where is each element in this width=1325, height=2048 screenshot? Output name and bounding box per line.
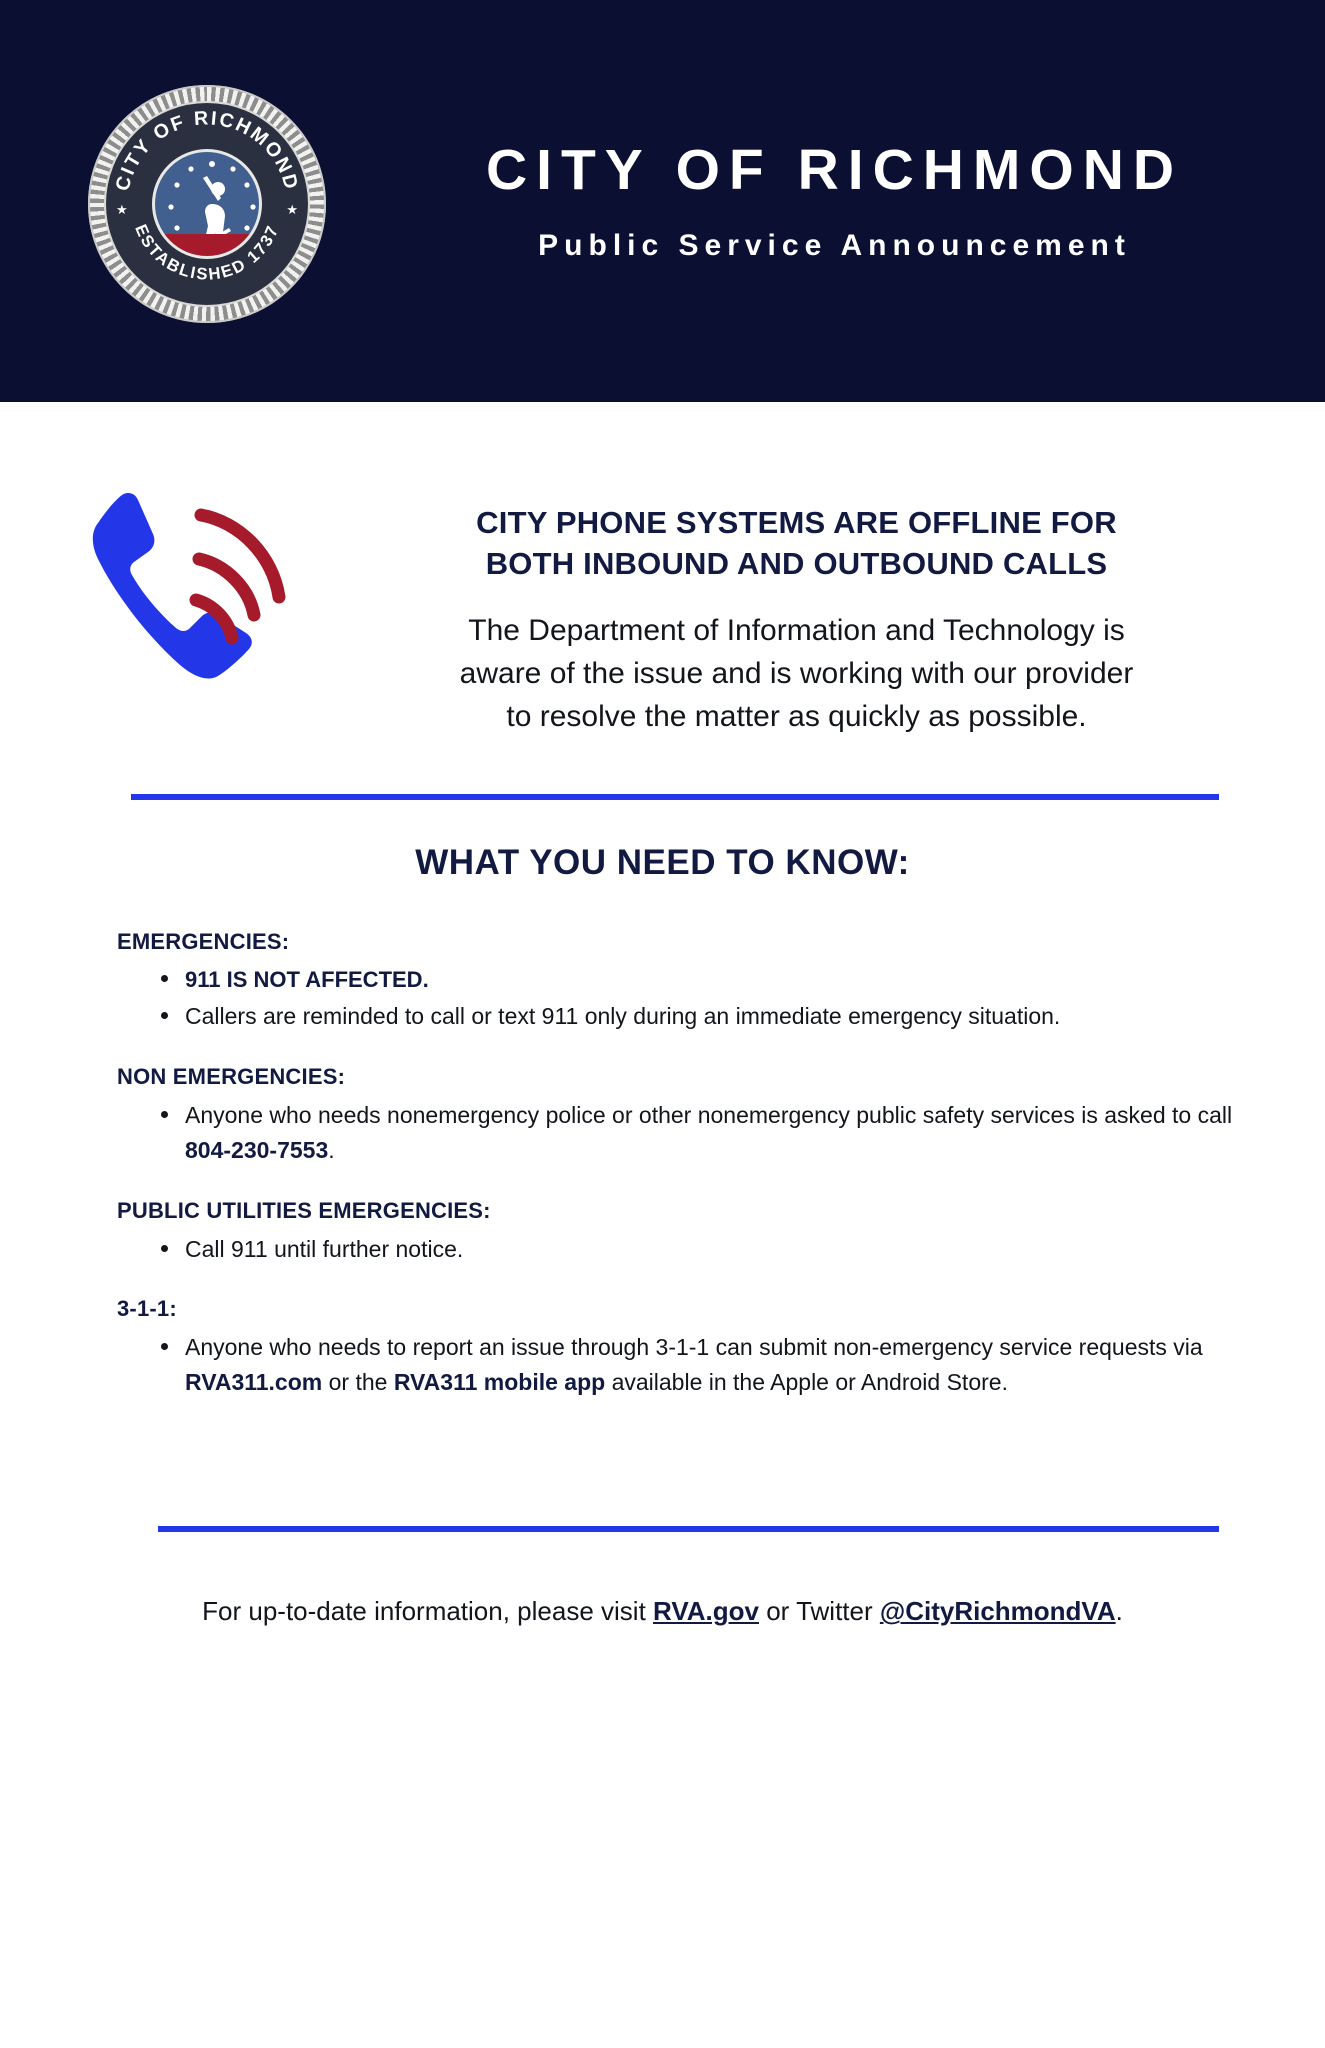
footer-suffix: . [1116, 1596, 1123, 1626]
list-item: Anyone who needs to report an issue thro… [159, 1330, 1235, 1400]
emphasis-text: 911 IS NOT AFFECTED. [185, 967, 429, 992]
body-text: Call 911 until further notice. [185, 1236, 463, 1262]
bullet-list: Anyone who needs to report an issue thro… [117, 1330, 1235, 1400]
footer-link-twitter[interactable]: @CityRichmondVA [880, 1596, 1116, 1626]
bullet-list: 911 IS NOT AFFECTED.Callers are reminded… [117, 963, 1235, 1033]
list-item: Callers are reminded to call or text 911… [159, 999, 1235, 1034]
body-text: Anyone who needs to report an issue thro… [185, 1334, 1203, 1360]
body-text: Callers are reminded to call or text 911… [185, 1003, 1060, 1029]
divider-bottom [158, 1526, 1219, 1532]
know-group: EMERGENCIES:911 IS NOT AFFECTED.Callers … [117, 929, 1235, 1033]
page-title: CITY OF RICHMOND [384, 139, 1285, 202]
header-title-block: CITY OF RICHMOND Public Service Announce… [384, 139, 1325, 264]
what-you-need-to-know-list: EMERGENCIES:911 IS NOT AFFECTED.Callers … [0, 883, 1325, 1400]
section-title: WHAT YOU NEED TO KNOW: [0, 843, 1325, 883]
city-seal-logo: CITY OF RICHMOND ESTABLISHED 1737 ★ ★ [88, 85, 326, 323]
list-item: Anyone who needs nonemergency police or … [159, 1098, 1235, 1168]
emphasis-text: 804-230-7553 [185, 1137, 328, 1163]
know-group: PUBLIC UTILITIES EMERGENCIES:Call 911 un… [117, 1198, 1235, 1267]
list-item: Call 911 until further notice. [159, 1232, 1235, 1267]
bullet-list: Call 911 until further notice. [117, 1232, 1235, 1267]
group-heading: EMERGENCIES: [117, 929, 1235, 955]
footer-note: For up-to-date information, please visit… [0, 1596, 1325, 1627]
body-text: . [328, 1137, 334, 1163]
alert-text-block: CITY PHONE SYSTEMS ARE OFFLINE FOR BOTH … [318, 450, 1265, 738]
footer-link-rva-gov[interactable]: RVA.gov [653, 1596, 759, 1626]
psa-page: CITY OF RICHMOND ESTABLISHED 1737 ★ ★ [0, 0, 1325, 2048]
alert-block: CITY PHONE SYSTEMS ARE OFFLINE FOR BOTH … [0, 402, 1325, 738]
seal-dark-ring: CITY OF RICHMOND ESTABLISHED 1737 ★ ★ [104, 101, 310, 307]
body-text: Anyone who needs nonemergency police or … [185, 1102, 1232, 1128]
alert-headline: CITY PHONE SYSTEMS ARE OFFLINE FOR BOTH … [452, 502, 1142, 584]
seal-red-base [161, 234, 253, 256]
list-item: 911 IS NOT AFFECTED. [159, 963, 1235, 996]
bullet-list: Anyone who needs nonemergency police or … [117, 1098, 1235, 1168]
group-heading: NON EMERGENCIES: [117, 1064, 1235, 1090]
footer-middle: or Twitter [759, 1596, 880, 1626]
ringing-phone-icon [68, 460, 318, 715]
emphasis-text: RVA311.com [185, 1369, 322, 1395]
know-group: NON EMERGENCIES:Anyone who needs nonemer… [117, 1064, 1235, 1168]
footer-prefix: For up-to-date information, please visit [202, 1596, 653, 1626]
know-group: 3-1-1:Anyone who needs to report an issu… [117, 1296, 1235, 1400]
group-heading: 3-1-1: [117, 1296, 1235, 1322]
group-heading: PUBLIC UTILITIES EMERGENCIES: [117, 1198, 1235, 1224]
body-text: or the [322, 1369, 394, 1395]
seal-blue-field [152, 149, 262, 259]
divider-top [131, 794, 1219, 800]
seal-star-right: ★ [286, 203, 298, 216]
page-subtitle: Public Service Announcement [384, 229, 1285, 263]
seal-star-left: ★ [116, 203, 128, 216]
header-banner: CITY OF RICHMOND ESTABLISHED 1737 ★ ★ [0, 0, 1325, 402]
alert-body-text: The Department of Information and Techno… [457, 610, 1137, 738]
body-text: available in the Apple or Android Store. [605, 1369, 1008, 1395]
emphasis-text: RVA311 mobile app [394, 1369, 605, 1395]
